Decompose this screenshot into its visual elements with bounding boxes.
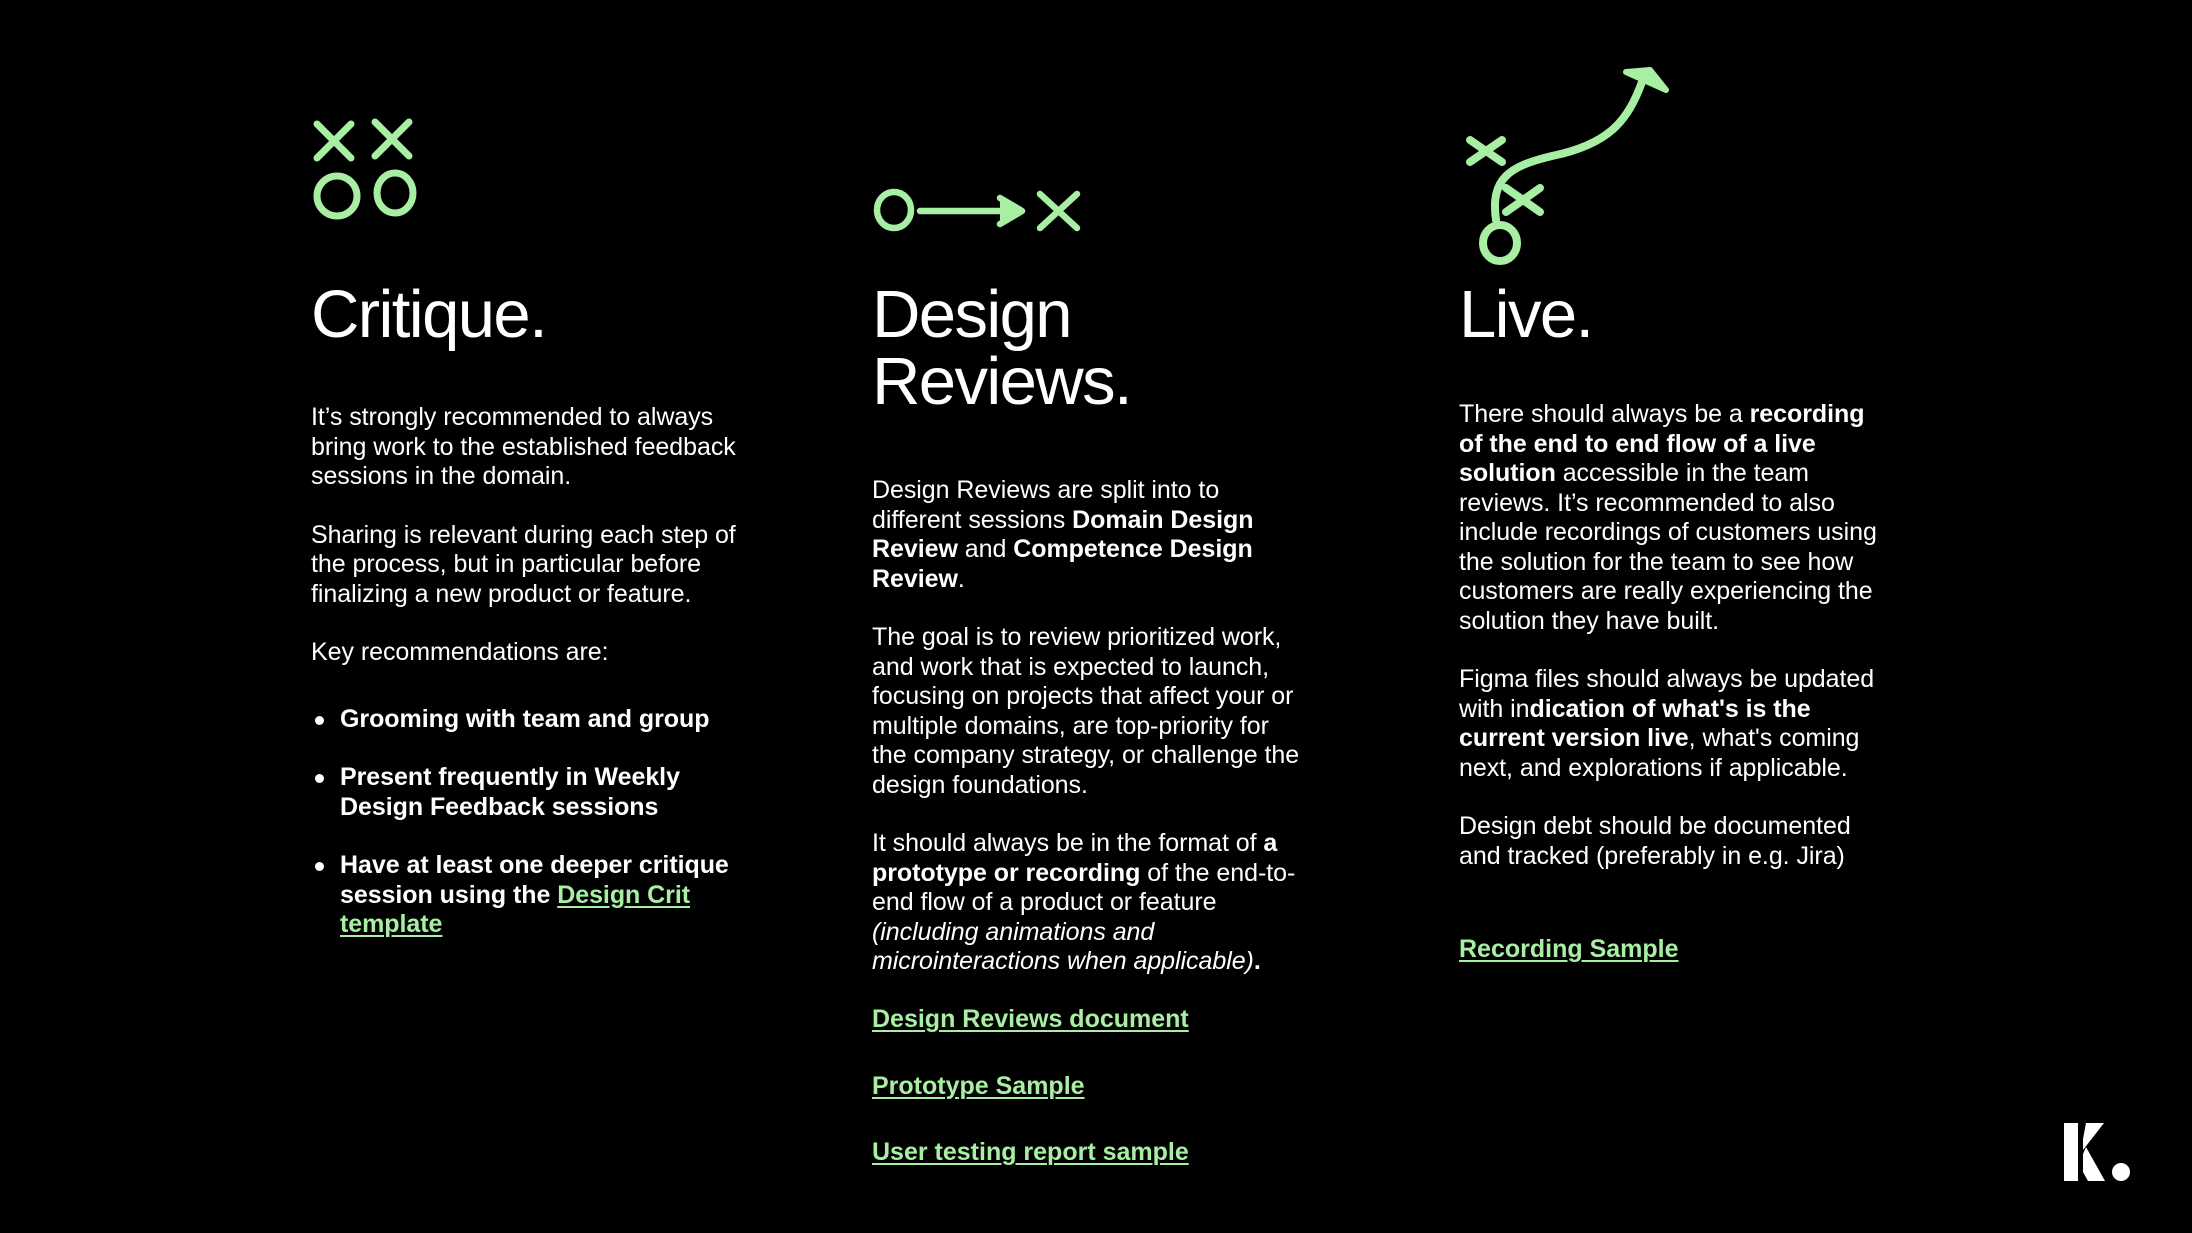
circle-arrow-x-playbook-icon: [872, 184, 1082, 241]
paragraph: Key recommendations are:: [311, 638, 743, 668]
text-run-bold: .: [1254, 947, 1261, 975]
page-title-live: Live.: [1459, 281, 1593, 348]
paragraph: Design debt should be documented and tra…: [1459, 812, 1891, 871]
list-item: Grooming with team and group: [311, 705, 743, 735]
text-run: There should always be a: [1459, 400, 1750, 428]
link-row: Prototype Sample: [872, 1072, 1189, 1102]
slide-root: Critique. Design Reviews. Live. It’s str…: [0, 0, 2192, 1233]
prototype-sample-link[interactable]: Prototype Sample: [872, 1072, 1085, 1100]
text-run: The goal is to review prioritized work, …: [872, 623, 1299, 799]
link-row: User testing report sample: [872, 1138, 1189, 1168]
list-item-label: Present frequently in Weekly Design Feed…: [340, 763, 680, 821]
page-title-design-reviews: Design Reviews.: [872, 281, 1131, 415]
column-design-reviews-body: Design Reviews are split into to differe…: [872, 476, 1304, 977]
column-live-body: There should always be a recording of th…: [1459, 400, 1891, 871]
paragraph: Sharing is relevant during each step of …: [311, 521, 743, 610]
paragraph: It’s strongly recommended to always brin…: [311, 403, 743, 492]
design-reviews-document-link[interactable]: Design Reviews document: [872, 1005, 1189, 1033]
paragraph: It should always be in the format of a p…: [872, 829, 1304, 977]
paragraph: Design Reviews are split into to differe…: [872, 476, 1304, 594]
link-row: Design Reviews document: [872, 1005, 1189, 1035]
list-item: Present frequently in Weekly Design Feed…: [311, 763, 743, 822]
page-title-critique: Critique.: [311, 281, 546, 348]
list-item: Have at least one deeper critique sessio…: [311, 851, 743, 940]
text-run: and: [958, 535, 1013, 563]
k-dot-logo: [2064, 1123, 2130, 1181]
text-run: It should always be in the format of: [872, 829, 1263, 857]
text-run-italic: (including animations and microinteracti…: [872, 918, 1254, 976]
paragraph: There should always be a recording of th…: [1459, 400, 1891, 636]
column-critique-body: It’s strongly recommended to always brin…: [311, 403, 743, 969]
user-testing-report-sample-link[interactable]: User testing report sample: [872, 1138, 1189, 1166]
recording-sample-link[interactable]: Recording Sample: [1459, 935, 1679, 963]
paragraph: The goal is to review prioritized work, …: [872, 623, 1304, 800]
live-links: Recording Sample: [1459, 935, 1679, 965]
two-x-two-o-playbook-icon: [311, 116, 431, 226]
recommendations-list: Grooming with team and group Present fre…: [311, 705, 743, 940]
design-reviews-links: Design Reviews document Prototype Sample…: [872, 1005, 1189, 1168]
list-item-label: Grooming with team and group: [340, 705, 709, 733]
text-run: Design debt should be documented and tra…: [1459, 812, 1851, 870]
link-row: Recording Sample: [1459, 935, 1679, 965]
curved-route-arrow-playbook-icon: [1440, 48, 1720, 273]
paragraph: Figma files should always be updated wit…: [1459, 665, 1891, 783]
text-run: .: [958, 565, 965, 593]
